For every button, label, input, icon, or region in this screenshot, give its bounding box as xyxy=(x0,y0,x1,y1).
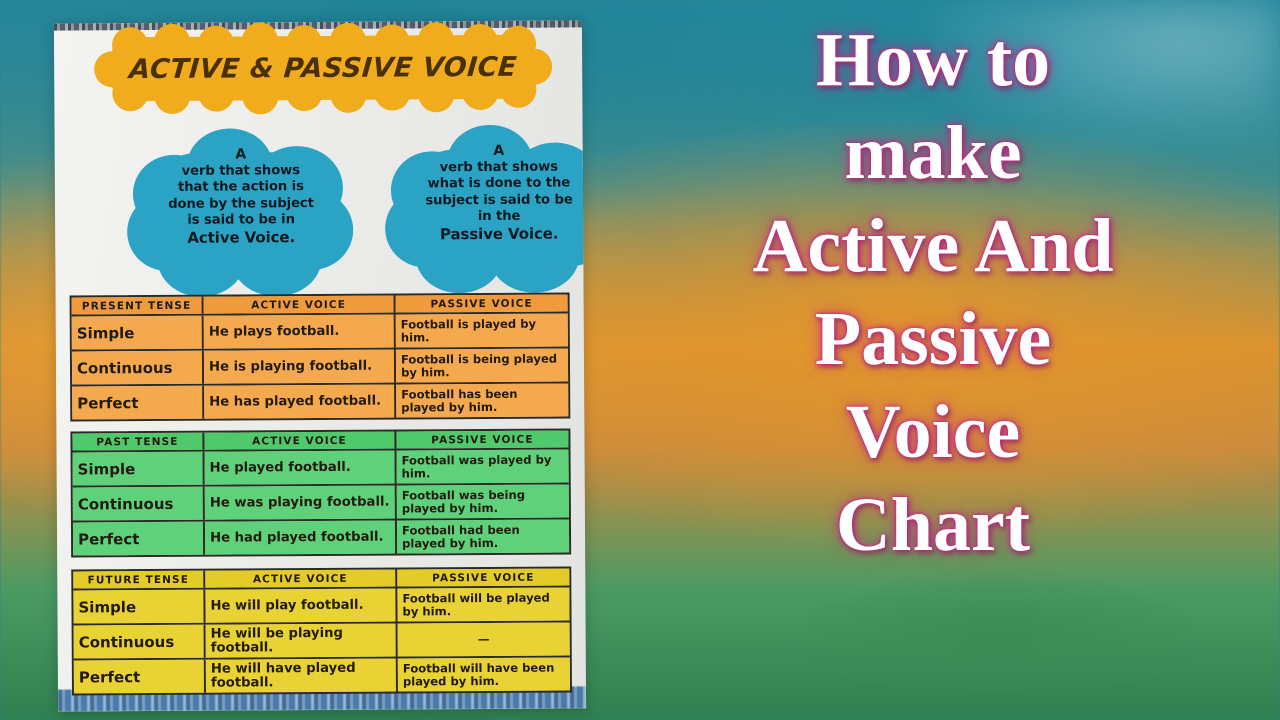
cell-active: He played football. xyxy=(205,451,397,485)
table-row: Simple He plays football. Football is pl… xyxy=(72,313,568,351)
cell-aspect: Continuous xyxy=(74,625,206,659)
cloud-active-line-2: that the action is xyxy=(178,179,304,195)
header-tense: Present Tense xyxy=(72,297,204,315)
cell-passive: Football was played by him. xyxy=(397,449,569,483)
header-active-voice: Active Voice xyxy=(205,570,397,588)
cell-aspect: Perfect xyxy=(73,522,205,556)
cell-passive: Football is played by him. xyxy=(396,313,568,347)
header-passive-voice: Passive Voice xyxy=(397,568,569,586)
cell-aspect: Simple xyxy=(73,452,205,486)
table-row: Continuous He will be playing football. … xyxy=(74,622,570,660)
cell-aspect: Continuous xyxy=(73,487,205,521)
cloud-passive-line-3: subject is said to be xyxy=(425,192,572,208)
cell-active: He will have played football. xyxy=(206,659,398,693)
header-tense: Past Tense xyxy=(72,433,204,451)
header-passive-voice: Passive Voice xyxy=(396,430,568,448)
cell-aspect: Simple xyxy=(72,316,204,350)
cloud-passive-line-1: verb that shows xyxy=(440,159,558,175)
cloud-passive-line-4: in the xyxy=(478,209,521,224)
header-active-voice: Active Voice xyxy=(204,432,396,450)
table-row: Continuous He was playing football. Foot… xyxy=(73,484,569,522)
poster-board: Active & Passive Voice A verb that shows… xyxy=(54,20,586,711)
table-row: Simple He will play football. Football w… xyxy=(73,587,569,625)
cloud-passive-text: A verb that shows what is done to the su… xyxy=(399,142,586,242)
cell-passive: Football will have been played by him. xyxy=(398,657,570,691)
header-tense: Future Tense xyxy=(73,571,205,589)
cloud-active-emphasis: Active Voice. xyxy=(141,228,341,246)
title-banner: Active & Passive Voice xyxy=(106,35,540,102)
table-present-tense: Present Tense Active Voice Passive Voice… xyxy=(70,292,571,421)
table-past-tense: Past Tense Active Voice Passive Voice Si… xyxy=(70,428,571,557)
cell-aspect: Continuous xyxy=(72,351,204,385)
cell-passive: Football had been played by him. xyxy=(397,519,569,553)
table-row: Continuous He is playing football. Footb… xyxy=(72,348,568,386)
cell-passive: — xyxy=(398,622,570,656)
cell-active: He had played football. xyxy=(205,521,397,555)
cell-passive: Football was being played by him. xyxy=(397,484,569,518)
cloud-active-line-1: verb that shows xyxy=(182,163,300,179)
cell-active: He will be playing football. xyxy=(206,624,398,658)
cloud-active-definition: A verb that shows that the action is don… xyxy=(127,128,354,299)
table-future-tense: Future Tense Active Voice Passive Voice … xyxy=(71,566,572,695)
cell-active: He plays football. xyxy=(204,315,396,349)
cloud-passive-line-2: what is done to the xyxy=(428,175,571,191)
screenshot-stage: Active & Passive Voice A verb that shows… xyxy=(0,0,1280,720)
cell-aspect: Perfect xyxy=(72,386,204,420)
cloud-active-text: A verb that shows that the action is don… xyxy=(141,146,342,246)
cell-passive: Football is being played by him. xyxy=(396,348,568,382)
cloud-active-line-4: is said to be in xyxy=(187,212,295,228)
header-active-voice: Active Voice xyxy=(204,296,396,314)
table-row: Perfect He will have played football. Fo… xyxy=(74,657,570,693)
table-row: Perfect He had played football. Football… xyxy=(73,519,569,555)
cell-passive: Football has been played by him. xyxy=(396,383,568,417)
banner-title-text: Active & Passive Voice xyxy=(104,35,543,102)
cell-active: He has played football. xyxy=(204,385,396,419)
cell-active: He was playing football. xyxy=(205,486,397,520)
cell-aspect: Simple xyxy=(73,590,205,624)
table-row: Simple He played football. Football was … xyxy=(73,449,569,487)
cloud-active-line-3: done by the subject xyxy=(168,196,314,212)
cell-active: He will play football. xyxy=(205,589,397,623)
cloud-passive-definition: A verb that shows what is done to the su… xyxy=(385,124,587,295)
cell-aspect: Perfect xyxy=(74,660,206,694)
cloud-passive-emphasis: Passive Voice. xyxy=(399,225,586,243)
cell-active: He is playing football. xyxy=(204,350,396,384)
header-passive-voice: Passive Voice xyxy=(396,294,568,312)
cloud-active-lead: A xyxy=(141,146,341,164)
cell-passive: Football will be played by him. xyxy=(397,587,569,621)
cloud-passive-lead: A xyxy=(399,142,586,160)
table-row: Perfect He has played football. Football… xyxy=(72,383,568,419)
